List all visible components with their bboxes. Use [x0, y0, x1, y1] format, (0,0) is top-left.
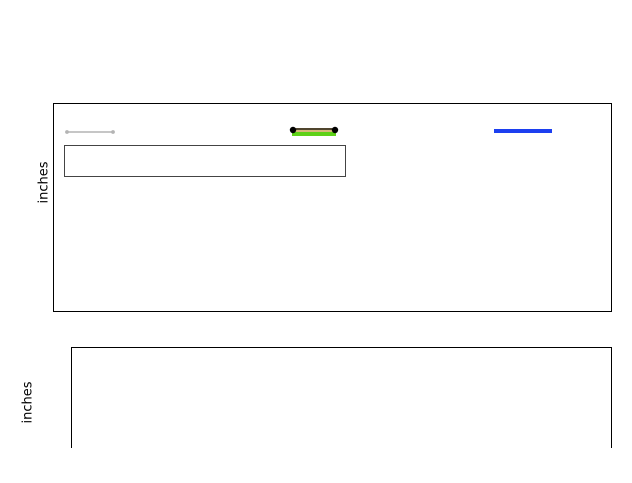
- bottom-chart-canvas: [72, 348, 611, 448]
- top-chart-y-axis-label: inches: [37, 133, 52, 233]
- crop-percentile-table: [64, 145, 346, 177]
- chart-legend: [64, 124, 604, 140]
- normal-swatch-icon: [494, 129, 552, 133]
- ensemble-average-swatch-icon: [288, 126, 340, 137]
- bottom-chart-y-axis-label: inches: [21, 353, 36, 453]
- daily-precipitation-chart: [71, 347, 612, 448]
- ensemble-members-swatch-icon: [64, 130, 116, 134]
